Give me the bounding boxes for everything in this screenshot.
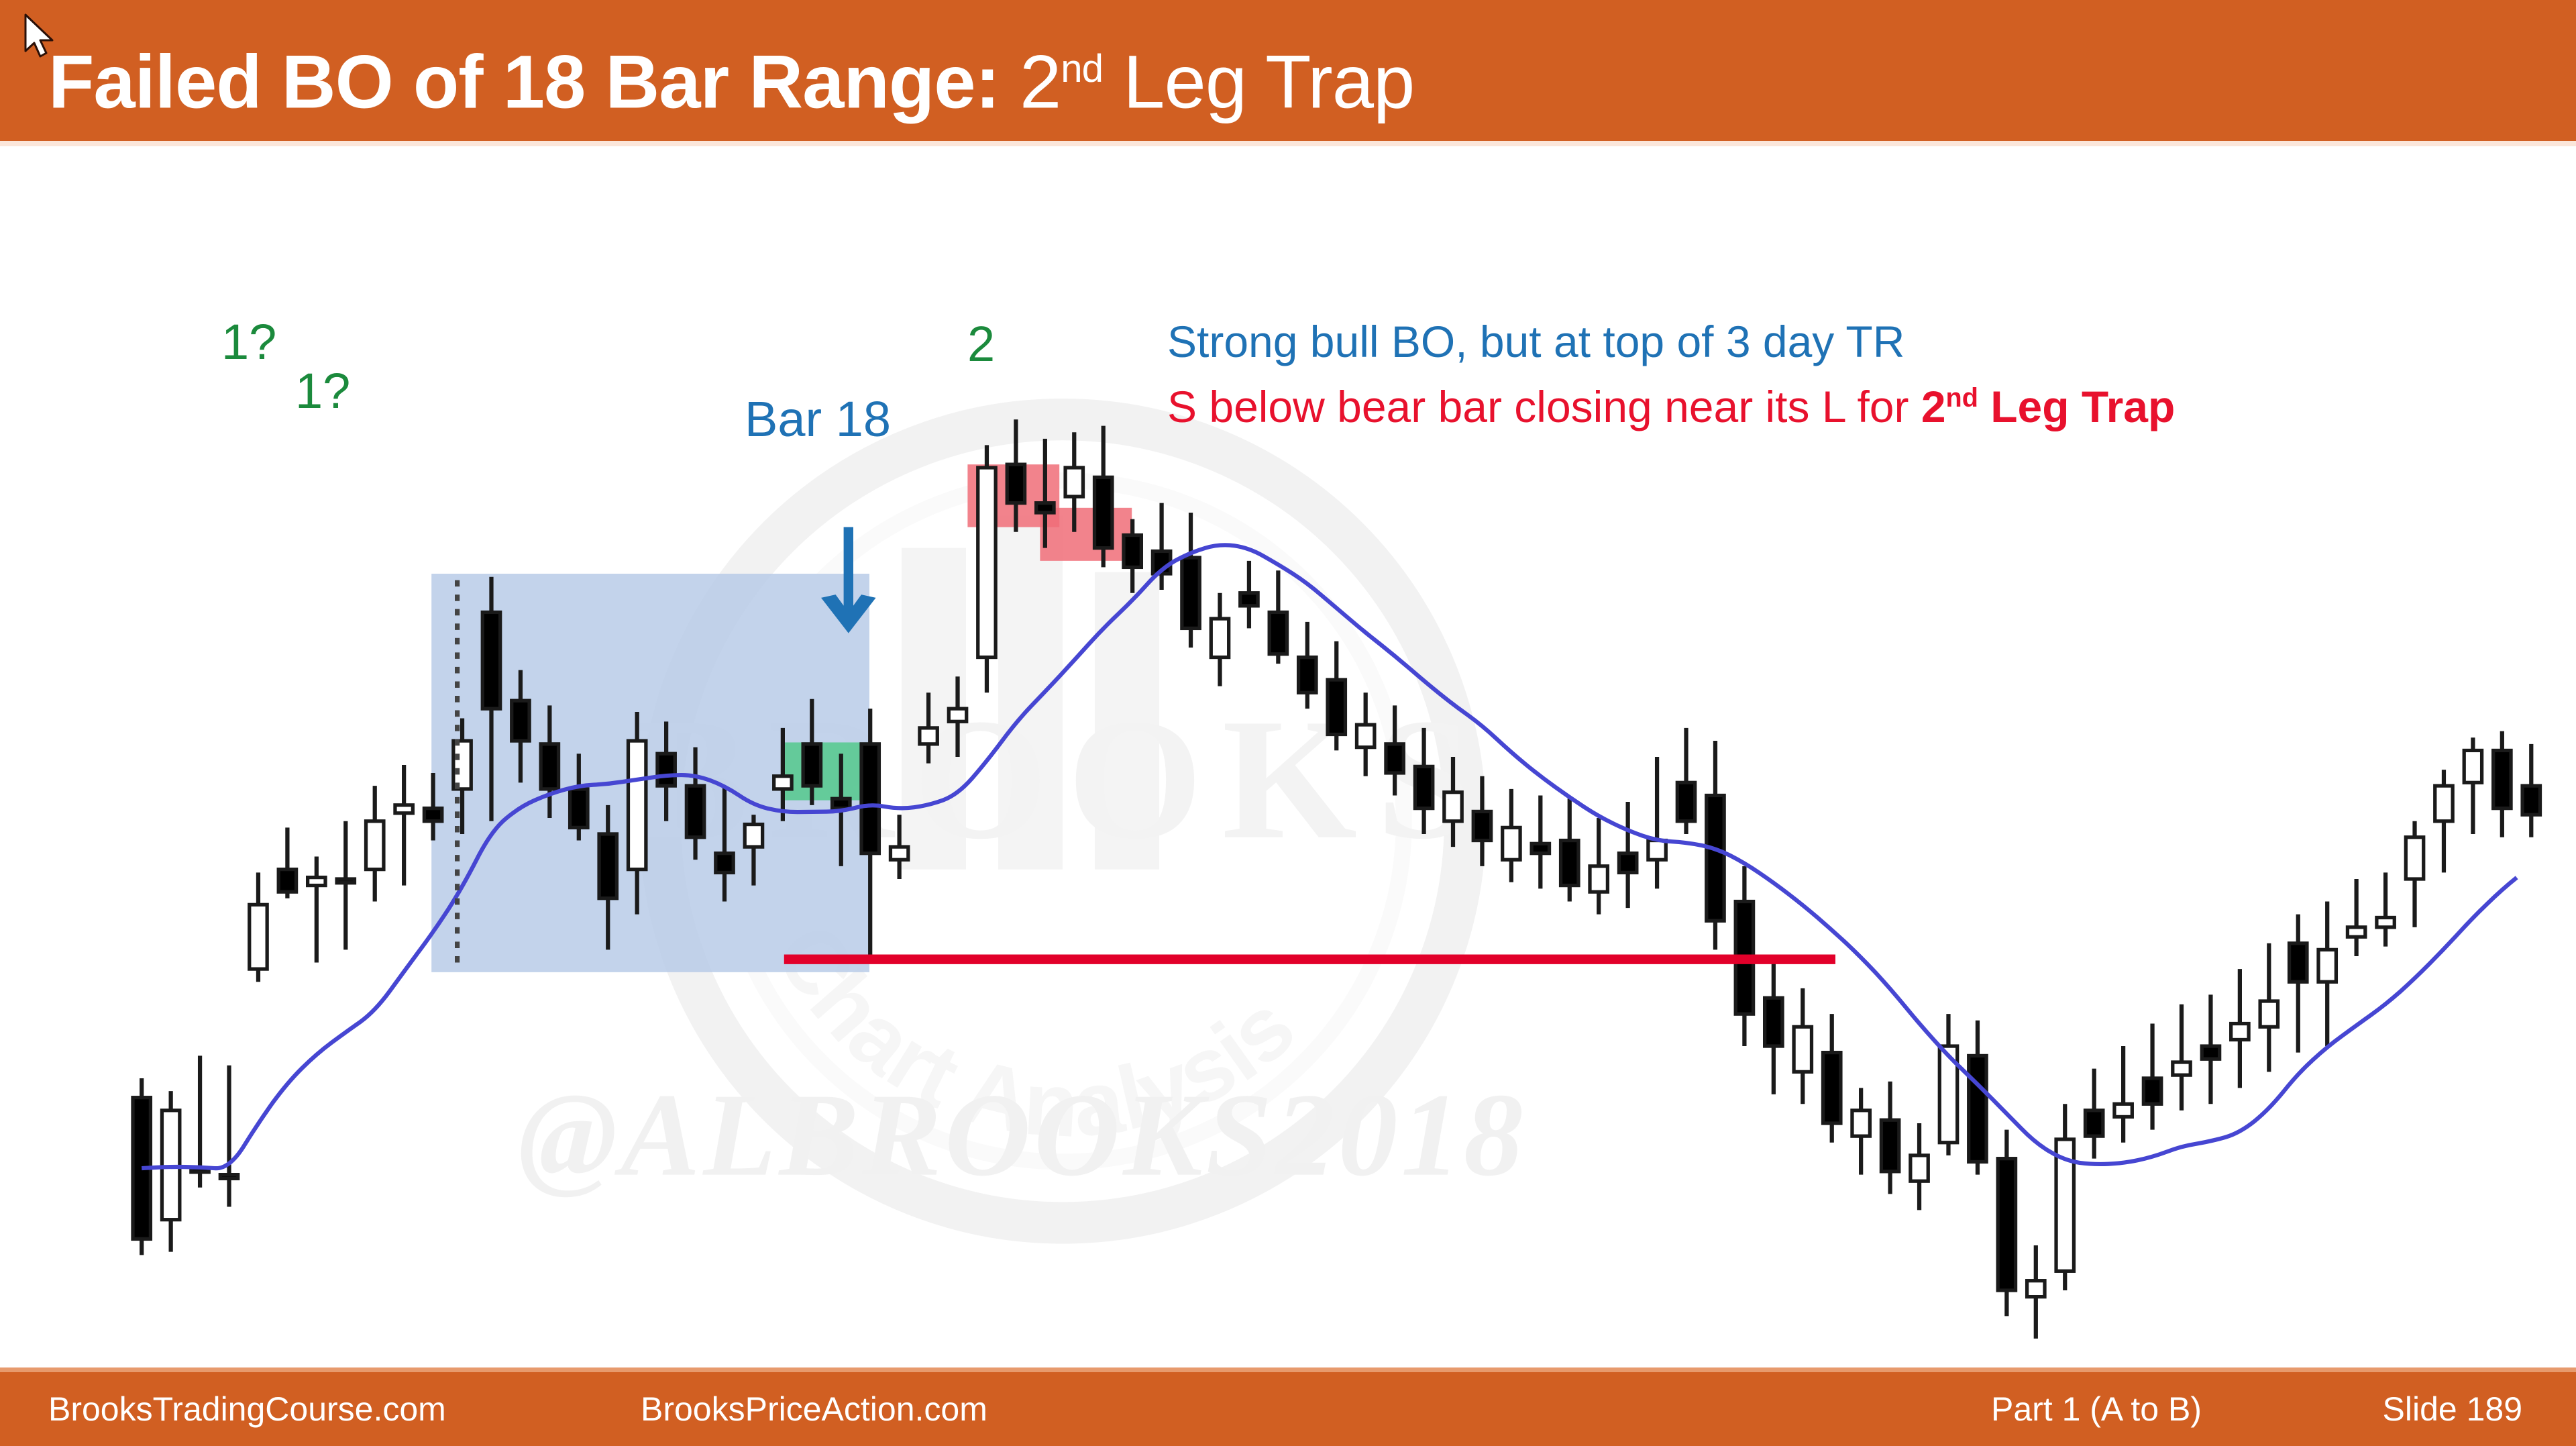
candle-68 bbox=[2085, 1069, 2102, 1159]
candle-73 bbox=[2231, 969, 2249, 1088]
page-title: Failed BO of 18 Bar Range: 2nd Leg Trap bbox=[48, 12, 1414, 139]
candle-38 bbox=[1211, 593, 1228, 686]
candle-50 bbox=[1561, 798, 1578, 901]
candle-82 bbox=[2493, 731, 2511, 837]
candle-64 bbox=[1969, 1021, 1986, 1175]
candle-51 bbox=[1590, 818, 1607, 915]
footer-link-trading-course[interactable]: BrooksTradingCourse.com bbox=[48, 1390, 446, 1429]
footer-part-label: Part 1 (A to B) bbox=[1991, 1390, 2202, 1429]
mouse-pointer-icon bbox=[20, 12, 58, 60]
candle-60 bbox=[1852, 1088, 1870, 1174]
candle-42 bbox=[1328, 641, 1345, 751]
candle-37 bbox=[1182, 513, 1199, 648]
footer-link-price-action[interactable]: BrooksPriceAction.com bbox=[641, 1390, 987, 1429]
label-leg-two: 2 bbox=[967, 319, 995, 369]
candle-54 bbox=[1677, 728, 1695, 834]
footer-topline bbox=[0, 1367, 2576, 1372]
candle-62 bbox=[1911, 1123, 1928, 1210]
note-red-ordinal: 2 bbox=[1921, 382, 1946, 431]
candle-67 bbox=[2056, 1104, 2074, 1290]
candle-65 bbox=[1998, 1130, 2015, 1316]
footer-slide-number: Slide 189 bbox=[2383, 1390, 2523, 1429]
candle-48 bbox=[1503, 789, 1520, 882]
candle-10 bbox=[395, 765, 413, 886]
note-bull-breakout: Strong bull BO, but at top of 3 day TR bbox=[1167, 319, 1904, 364]
candle-61 bbox=[1881, 1082, 1898, 1194]
note-red-bold-tail: Leg Trap bbox=[1978, 382, 2175, 431]
title-bold-part: Failed BO of 18 Bar Range: bbox=[48, 40, 1000, 123]
candle-66 bbox=[2027, 1245, 2045, 1339]
candle-80 bbox=[2435, 770, 2453, 872]
candle-8 bbox=[337, 821, 354, 950]
candle-77 bbox=[2347, 879, 2365, 956]
candle-6 bbox=[278, 827, 296, 898]
candle-70 bbox=[2143, 1024, 2161, 1130]
price-chart: BROOKS Chart Analysis @ALBROOKS2018 1? 1… bbox=[0, 146, 2576, 1367]
candle-79 bbox=[2406, 821, 2423, 927]
candle-59 bbox=[1823, 1014, 1841, 1143]
candle-72 bbox=[2202, 994, 2219, 1104]
candle-39 bbox=[1240, 561, 1258, 629]
note-red-ordinal-suffix: nd bbox=[1946, 383, 1978, 413]
candle-30 bbox=[978, 445, 996, 692]
candle-76 bbox=[2318, 902, 2336, 1047]
note-second-leg-trap: S below bear bar closing near its L for … bbox=[1167, 384, 2175, 429]
candle-74 bbox=[2260, 943, 2277, 1072]
label-bar-18: Bar 18 bbox=[745, 395, 891, 444]
candle-69 bbox=[2114, 1046, 2132, 1143]
header-underline bbox=[0, 141, 2576, 146]
label-leg-one-upper: 1? bbox=[221, 317, 276, 367]
candle-49 bbox=[1532, 795, 1549, 888]
candle-71 bbox=[2173, 1004, 2190, 1111]
candle-81 bbox=[2464, 737, 2481, 834]
slide-header: Failed BO of 18 Bar Range: 2nd Leg Trap bbox=[0, 0, 2576, 141]
candle-58 bbox=[1794, 988, 1811, 1104]
slide-root: Failed BO of 18 Bar Range: 2nd Leg Trap … bbox=[0, 0, 2576, 1446]
watermark-handle: @ALBROOKS2018 bbox=[519, 1070, 1527, 1201]
candle-53 bbox=[1648, 757, 1666, 888]
candle-5 bbox=[250, 872, 267, 982]
title-ordinal-number: 2 bbox=[1020, 40, 1061, 123]
label-leg-one-lower: 1? bbox=[295, 366, 350, 416]
candle-4 bbox=[220, 1066, 237, 1207]
note-red-text: S below bear bar closing near its L for bbox=[1167, 382, 1921, 431]
candle-63 bbox=[1939, 1014, 1957, 1155]
candle-34 bbox=[1095, 426, 1112, 568]
candle-75 bbox=[2290, 915, 2307, 1053]
candle-9 bbox=[366, 786, 384, 901]
candle-83 bbox=[2522, 744, 2540, 837]
bear-bar-highlight-lower bbox=[1040, 508, 1132, 561]
candle-40 bbox=[1269, 570, 1287, 664]
candle-52 bbox=[1619, 802, 1636, 908]
slide-footer: BrooksTradingCourse.com BrooksPriceActio… bbox=[0, 1372, 2576, 1446]
title-tail-part: Leg Trap bbox=[1103, 40, 1414, 123]
candle-78 bbox=[2377, 872, 2394, 946]
candle-57 bbox=[1765, 960, 1782, 1094]
candle-2 bbox=[162, 1091, 179, 1251]
candle-7 bbox=[308, 856, 325, 962]
svg-text:@ALBROOKS2018: @ALBROOKS2018 bbox=[519, 1070, 1527, 1201]
title-ordinal-suffix: nd bbox=[1061, 47, 1103, 91]
